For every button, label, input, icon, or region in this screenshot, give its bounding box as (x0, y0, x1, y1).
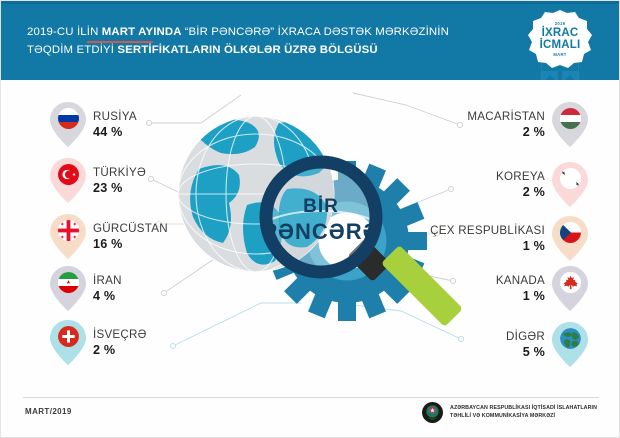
item-labels: GÜRCÜSTAN 16 % (93, 222, 168, 252)
country-name: KOREYA (496, 170, 545, 183)
item-labels: MACARİSTAN 2 % (467, 110, 545, 140)
country-value: 4 % (93, 289, 122, 304)
map-pin (49, 101, 87, 149)
map-pin (551, 265, 589, 313)
list-item-diger[interactable]: DİGƏR 5 % (506, 321, 589, 369)
header-banner: 2019-CU İLİN MART AYINDA “BİR PƏNCƏRƏ” İ… (1, 1, 620, 80)
center-label-line1: BİR (303, 196, 339, 217)
korea-flag-icon (560, 168, 581, 189)
country-name: İRAN (93, 274, 122, 287)
list-item-cex-respublikasi[interactable]: ÇEX RESPUBLİKASI 1 % (430, 215, 589, 263)
footer-divider (23, 397, 599, 398)
title-line1-bold: MART AYINDA (102, 26, 185, 38)
hungary-flag-icon (560, 108, 581, 129)
infographic-root: 2019-CU İLİN MART AYINDA “BİR PƏNCƏRƏ” İ… (0, 0, 620, 438)
item-labels: RUSİYA 44 % (93, 110, 137, 140)
country-value: 2 % (496, 185, 545, 200)
map-pin (49, 265, 87, 313)
item-labels: İRAN 4 % (93, 274, 122, 304)
country-name: GÜRCÜSTAN (93, 222, 168, 235)
badge-line2: İCMALI (540, 39, 581, 52)
list-item-isvecre[interactable]: İSVEÇRƏ 2 % (49, 319, 147, 367)
country-value: 2 % (467, 125, 545, 140)
item-labels: İSVEÇRƏ 2 % (93, 328, 147, 358)
country-name: ÇEX RESPUBLİKASI (430, 224, 545, 237)
map-pin (49, 319, 87, 367)
footer-date: MART/2019 (25, 407, 72, 416)
title-line1-plain: 2019-CU İLİN (27, 26, 102, 38)
list-item-turkiye[interactable]: TÜRKİYƏ 23 % (49, 157, 146, 205)
item-labels: DİGƏR 5 % (506, 330, 545, 360)
organization-name: AZƏRBAYCAN RESPUBLİKASI İQTİSADİ İSLAHAT… (450, 405, 597, 420)
country-name: TÜRKİYƏ (93, 166, 146, 179)
list-item-koreya[interactable]: KOREYA 2 % (496, 161, 589, 209)
badge-month: MART (553, 52, 566, 58)
country-name: MACARİSTAN (467, 110, 545, 123)
header-top-rule (1, 1, 620, 4)
country-value: 2 % (93, 343, 147, 358)
country-value: 16 % (93, 237, 168, 252)
country-value: 1 % (430, 239, 545, 254)
item-labels: KANADA 1 % (496, 274, 545, 304)
list-item-kanada[interactable]: KANADA 1 % (496, 265, 589, 313)
country-name: İSVEÇRƏ (93, 328, 147, 341)
item-labels: TÜRKİYƏ 23 % (93, 166, 146, 196)
title-line2-plain: TƏQDİM ETDİYİ (27, 44, 117, 56)
map-pin (551, 161, 589, 209)
turkey-flag-icon (58, 164, 79, 185)
org-line-1: AZƏRBAYCAN RESPUBLİKASI İQTİSADİ İSLAHAT… (450, 405, 597, 413)
iran-flag-icon (58, 272, 79, 293)
azerbaijan-emblem-icon (422, 402, 443, 423)
badge-text-block: 2019 İXRAC İCMALI MART (526, 9, 594, 69)
item-labels: ÇEX RESPUBLİKASI 1 % (430, 224, 545, 254)
title-line1-rest: “BİR PƏNCƏRƏ” İXRACA DƏSTƏK MƏRKƏZİNİN (185, 26, 449, 38)
country-value: 44 % (93, 125, 137, 140)
list-item-iran[interactable]: İRAN 4 % (49, 265, 122, 313)
country-name: DİGƏR (506, 330, 545, 343)
title-underline-accent (87, 41, 153, 43)
ixrac-icmali-badge: 2019 İXRAC İCMALI MART (521, 7, 599, 80)
georgia-flag-icon (58, 220, 79, 241)
czech-flag-icon (560, 222, 581, 243)
title-line2-bold: SERTİFİKATLARIN ÖLKƏLƏR ÜZRƏ BÖLGÜSÜ (117, 44, 377, 56)
org-line-2: TƏHLİLİ VƏ KOMMUNİKASİYA MƏRKƏZİ (450, 413, 597, 421)
center-label-line2: PƏNCƏRƏ (262, 219, 379, 244)
country-name: KANADA (496, 274, 545, 287)
list-item-gurcustan[interactable]: GÜRCÜSTAN 16 % (49, 213, 168, 261)
swiss-flag-icon (58, 326, 79, 347)
map-pin (49, 213, 87, 261)
globe-icon (560, 328, 581, 349)
russia-flag-icon (58, 108, 79, 129)
list-item-macaristan[interactable]: MACARİSTAN 2 % (467, 101, 589, 149)
map-pin (551, 321, 589, 369)
map-pin (49, 157, 87, 205)
list-item-rusiya[interactable]: RUSİYA 44 % (49, 101, 137, 149)
canada-flag-icon (560, 272, 581, 293)
country-value: 5 % (506, 345, 545, 360)
organization-credit: AZƏRBAYCAN RESPUBLİKASI İQTİSADİ İSLAHAT… (422, 402, 597, 423)
country-value: 23 % (93, 181, 146, 196)
country-value: 1 % (496, 289, 545, 304)
map-pin (551, 101, 589, 149)
badge-line1: İXRAC (542, 27, 579, 40)
map-pin (551, 215, 589, 263)
country-name: RUSİYA (93, 110, 137, 123)
item-labels: KOREYA 2 % (496, 170, 545, 200)
